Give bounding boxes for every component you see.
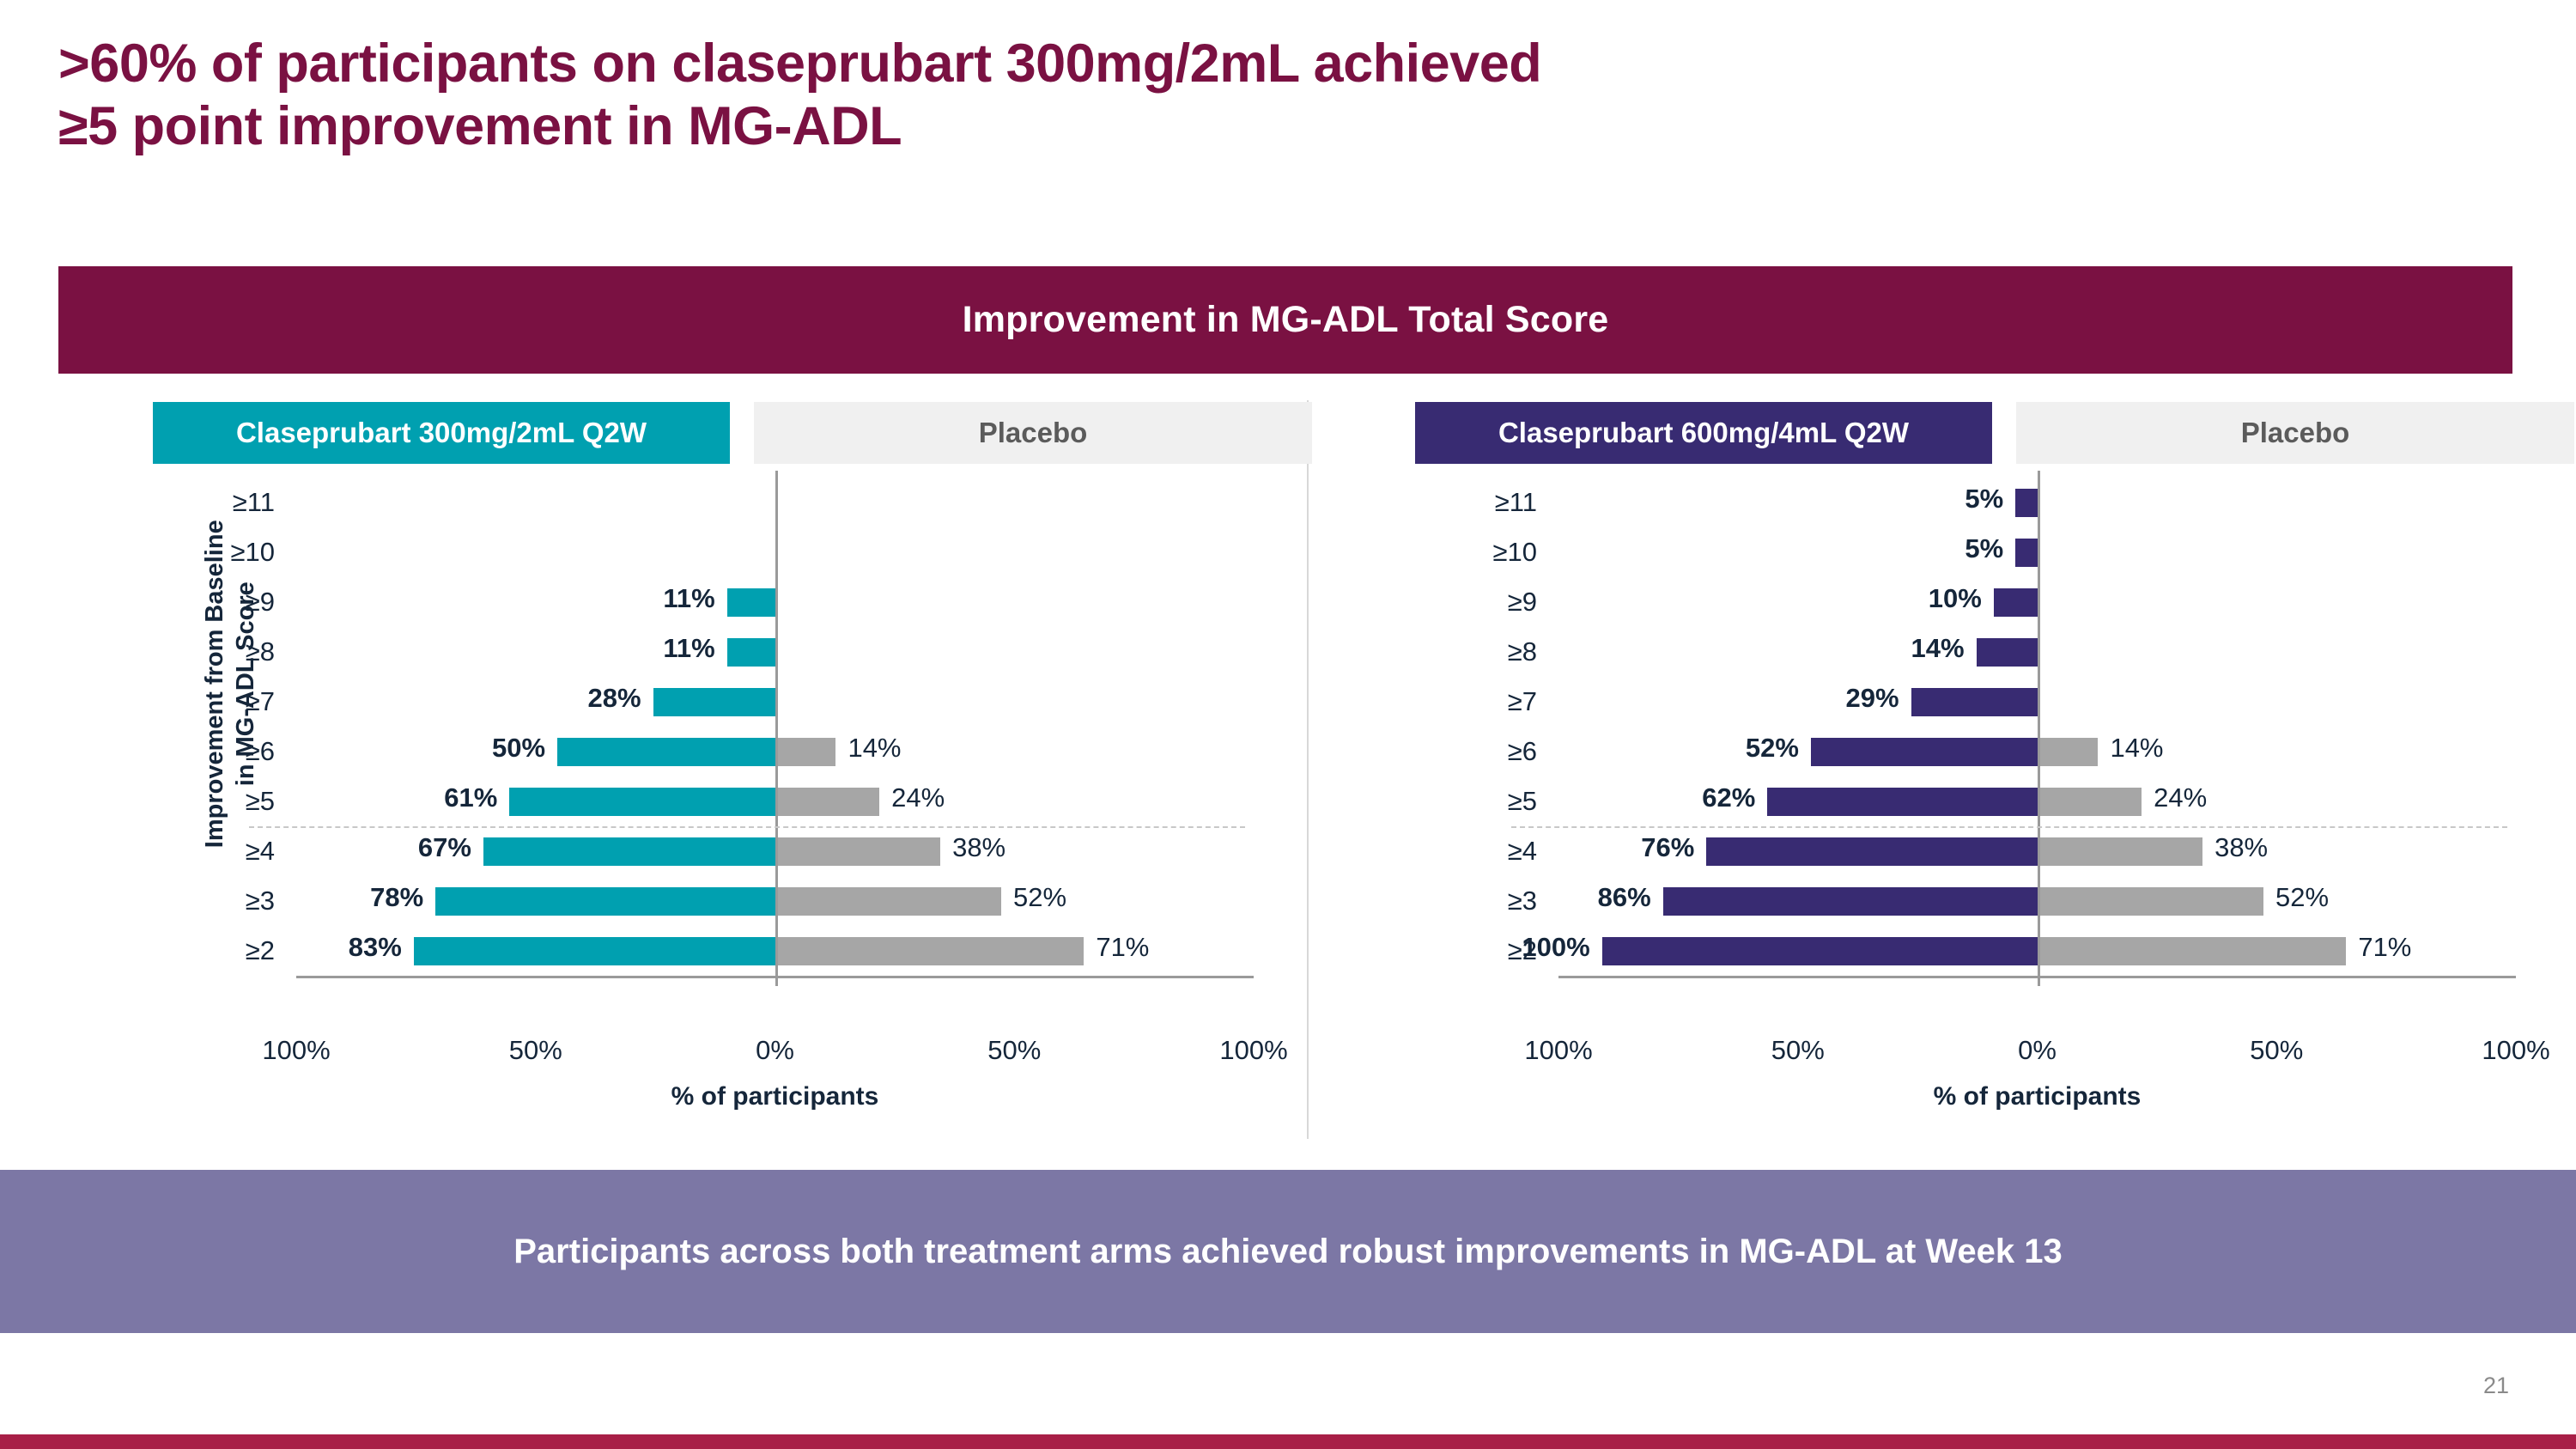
chart-row: ≥476%38% <box>1408 826 2533 876</box>
category-label: ≥5 <box>146 786 275 817</box>
bar-value-treatment: 100% <box>1522 932 1589 963</box>
chart-row: ≥10 <box>146 527 1271 577</box>
title-line-1: >60% of participants on claseprubart 300… <box>58 33 1541 94</box>
bar-value-treatment: 29% <box>1845 683 1899 714</box>
category-label: ≥2 <box>146 935 275 966</box>
plot-area-600mg: ≥115%≥105%≥910%≥814%≥729%≥652%14%≥562%24… <box>1408 478 2533 1027</box>
charts-container: Claseprubart 300mg/2mL Q2W Placebo Impro… <box>0 395 2576 1134</box>
bar-placebo <box>775 837 941 866</box>
x-axis-tick-label: 100% <box>1219 1035 1287 1066</box>
bar-treatment <box>414 937 775 965</box>
bar-treatment <box>2015 539 2037 567</box>
x-axis-tick-label: 0% <box>2018 1035 2057 1066</box>
x-axis-ticks-300mg: 100%50%0%50%100% <box>296 1035 1254 1075</box>
zero-axis-line <box>775 471 778 986</box>
chart-row: ≥115% <box>1408 478 2533 527</box>
bar-value-treatment: 11% <box>663 583 714 614</box>
bar-treatment <box>509 788 775 816</box>
bar-value-placebo: 38% <box>952 832 1005 863</box>
bar-treatment <box>435 887 775 916</box>
x-axis-tick-label: 100% <box>262 1035 330 1066</box>
axis-baseline <box>1558 976 2516 978</box>
bar-placebo <box>2038 738 2099 766</box>
bar-placebo <box>775 788 880 816</box>
bottom-accent-bar <box>0 1434 2576 1449</box>
bar-treatment <box>2015 489 2037 517</box>
category-label: ≥4 <box>146 836 275 867</box>
bar-treatment <box>1663 887 2038 916</box>
slide: >60% of participants on claseprubart 300… <box>0 0 2576 1449</box>
category-label: ≥9 <box>1408 587 1537 618</box>
category-label: ≥4 <box>1408 836 1537 867</box>
chart-row: ≥562%24% <box>1408 776 2533 826</box>
category-label: ≥8 <box>146 636 275 667</box>
chart-row: ≥11 <box>146 478 1271 527</box>
legend-300mg: Claseprubart 300mg/2mL Q2W Placebo <box>153 402 1269 464</box>
category-label: ≥3 <box>1408 886 1537 916</box>
x-axis-title-300mg: % of participants <box>296 1082 1254 1111</box>
chart-row: ≥811% <box>146 627 1271 677</box>
title-line-2: ≥5 point improvement in MG-ADL <box>58 95 2531 158</box>
bar-treatment <box>1767 788 2037 816</box>
bar-value-treatment: 5% <box>1965 533 2003 564</box>
bar-value-treatment: 52% <box>1746 733 1799 764</box>
category-label: ≥7 <box>1408 686 1537 717</box>
bar-value-treatment: 86% <box>1598 882 1651 913</box>
page-title: >60% of participants on claseprubart 300… <box>58 33 2531 158</box>
legend-600mg: Claseprubart 600mg/4mL Q2W Placebo <box>1415 402 2531 464</box>
bar-value-treatment: 50% <box>492 733 545 764</box>
bar-placebo <box>2038 937 2347 965</box>
bar-value-placebo: 38% <box>2215 832 2268 863</box>
section-banner: Improvement in MG-ADL Total Score <box>58 266 2512 374</box>
x-axis-tick-label: 50% <box>2250 1035 2303 1066</box>
category-label: ≥6 <box>146 736 275 767</box>
chart-row: ≥814% <box>1408 627 2533 677</box>
chart-row: ≥652%14% <box>1408 727 2533 776</box>
category-label: ≥6 <box>1408 736 1537 767</box>
bar-treatment <box>653 688 775 716</box>
bar-treatment <box>727 588 775 617</box>
chart-row: ≥283%71% <box>146 926 1271 976</box>
bar-treatment <box>1977 638 2038 667</box>
bar-treatment <box>1911 688 2038 716</box>
bar-value-treatment: 5% <box>1965 484 2003 514</box>
bar-treatment <box>1811 738 2038 766</box>
chart-row: ≥2100%71% <box>1408 926 2533 976</box>
legend-label-placebo-300mg: Placebo <box>979 417 1088 449</box>
bar-value-treatment: 83% <box>349 932 402 963</box>
footer-callout-text: Participants across both treatment arms … <box>513 1233 2063 1271</box>
bar-placebo <box>2038 837 2203 866</box>
category-label: ≥11 <box>146 487 275 518</box>
reference-dashed-line <box>249 826 1245 828</box>
bar-value-placebo: 52% <box>2275 882 2329 913</box>
bar-value-treatment: 78% <box>370 882 423 913</box>
bar-value-placebo: 71% <box>1096 932 1149 963</box>
chart-row: ≥728% <box>146 677 1271 727</box>
x-axis-tick-label: 50% <box>1771 1035 1825 1066</box>
category-label: ≥2 <box>1408 935 1537 966</box>
x-axis-title-600mg: % of participants <box>1558 1082 2516 1111</box>
bar-treatment <box>1994 588 2038 617</box>
bar-treatment <box>483 837 775 866</box>
chart-row: ≥910% <box>1408 577 2533 627</box>
chart-row: ≥378%52% <box>146 876 1271 926</box>
bar-value-placebo: 24% <box>2154 782 2207 813</box>
bar-value-treatment: 62% <box>1702 782 1755 813</box>
bar-placebo <box>2038 887 2264 916</box>
legend-chip-placebo-300mg[interactable]: Placebo <box>754 402 1312 464</box>
legend-chip-placebo-600mg[interactable]: Placebo <box>2016 402 2574 464</box>
chart-panel-300mg: Claseprubart 300mg/2mL Q2W Placebo Impro… <box>94 395 1292 1134</box>
legend-chip-treatment-300mg[interactable]: Claseprubart 300mg/2mL Q2W <box>153 402 730 464</box>
chart-row: ≥467%38% <box>146 826 1271 876</box>
bar-placebo <box>775 738 836 766</box>
category-label: ≥7 <box>146 686 275 717</box>
category-label: ≥9 <box>146 587 275 618</box>
bar-treatment <box>1706 837 2037 866</box>
reference-dashed-line <box>1511 826 2507 828</box>
bar-treatment <box>1602 937 2038 965</box>
category-label: ≥8 <box>1408 636 1537 667</box>
footer-callout: Participants across both treatment arms … <box>0 1170 2576 1333</box>
x-axis-tick-label: 50% <box>987 1035 1041 1066</box>
bar-value-treatment: 14% <box>1911 633 1965 664</box>
chart-row: ≥729% <box>1408 677 2533 727</box>
bar-value-treatment: 11% <box>663 633 714 664</box>
chart-panel-600mg: Claseprubart 600mg/4mL Q2W Placebo ≥115%… <box>1357 395 2555 1134</box>
bar-treatment <box>557 738 775 766</box>
category-label: ≥5 <box>1408 786 1537 817</box>
bar-placebo <box>775 937 1084 965</box>
legend-label-treatment-300mg: Claseprubart 300mg/2mL Q2W <box>236 417 647 449</box>
x-axis-tick-label: 100% <box>1524 1035 1592 1066</box>
chart-row: ≥105% <box>1408 527 2533 577</box>
category-label: ≥11 <box>1408 487 1537 518</box>
legend-label-treatment-600mg: Claseprubart 600mg/4mL Q2W <box>1498 417 1909 449</box>
category-label: ≥10 <box>146 537 275 568</box>
category-label: ≥3 <box>146 886 275 916</box>
bar-value-treatment: 28% <box>588 683 641 714</box>
x-axis-ticks-600mg: 100%50%0%50%100% <box>1558 1035 2516 1075</box>
x-axis-tick-label: 100% <box>2482 1035 2549 1066</box>
bar-placebo <box>775 887 1002 916</box>
bar-value-treatment: 10% <box>1929 583 1982 614</box>
page-number: 21 <box>2483 1373 2509 1399</box>
legend-label-placebo-600mg: Placebo <box>2241 417 2350 449</box>
bar-value-placebo: 71% <box>2358 932 2411 963</box>
legend-chip-treatment-600mg[interactable]: Claseprubart 600mg/4mL Q2W <box>1415 402 1992 464</box>
bar-value-placebo: 14% <box>2110 733 2163 764</box>
bar-value-placebo: 24% <box>891 782 945 813</box>
section-banner-title: Improvement in MG-ADL Total Score <box>963 299 1609 341</box>
x-axis-tick-label: 50% <box>509 1035 562 1066</box>
chart-row: ≥386%52% <box>1408 876 2533 926</box>
bar-placebo <box>2038 788 2142 816</box>
zero-axis-line <box>2038 471 2040 986</box>
bar-value-treatment: 67% <box>418 832 471 863</box>
chart-row: ≥911% <box>146 577 1271 627</box>
x-axis-tick-label: 0% <box>756 1035 794 1066</box>
plot-area-300mg: ≥11≥10≥911%≥811%≥728%≥650%14%≥561%24%≥46… <box>146 478 1271 1027</box>
chart-row: ≥561%24% <box>146 776 1271 826</box>
bar-value-treatment: 76% <box>1641 832 1694 863</box>
bar-value-treatment: 61% <box>444 782 497 813</box>
category-label: ≥10 <box>1408 537 1537 568</box>
chart-row: ≥650%14% <box>146 727 1271 776</box>
bar-value-placebo: 14% <box>848 733 901 764</box>
bar-treatment <box>727 638 775 667</box>
axis-baseline <box>296 976 1254 978</box>
bar-value-placebo: 52% <box>1013 882 1066 913</box>
